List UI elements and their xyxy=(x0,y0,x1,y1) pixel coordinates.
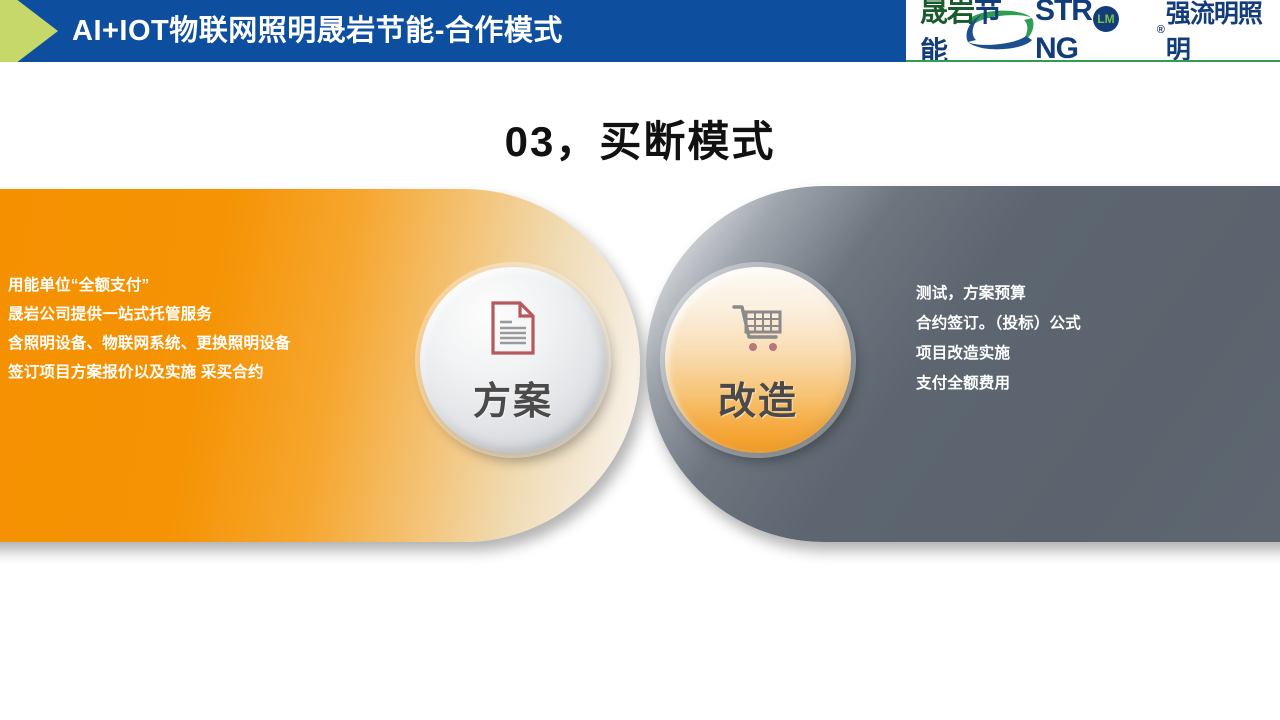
content-panels: 用能单位“全额支付” 晟岩公司提供一站式托管服务 含照明设备、物联网系统、更换照… xyxy=(0,186,1280,566)
left-panel-text-list: 用能单位“全额支付” 晟岩公司提供一站式托管服务 含照明设备、物联网系统、更换照… xyxy=(8,271,360,387)
retrofit-circle[interactable]: 改造 xyxy=(665,267,851,453)
list-item: 项目改造实施 xyxy=(916,339,1246,369)
strong-text: STRLMNG xyxy=(1035,0,1157,62)
logo-cn-green-text: 晟岩节能 xyxy=(920,0,1023,62)
brand-logo: 晟岩节能 STRLMNG ® 强流明照明 xyxy=(906,0,1280,62)
chevron-right-icon xyxy=(0,0,58,62)
list-item: 测试，方案预算 xyxy=(916,279,1246,309)
list-item: 含照明设备、物联网系统、更换照明设备 xyxy=(8,329,360,358)
strong-o-badge: LM xyxy=(1093,6,1119,32)
list-item: 用能单位“全额支付” xyxy=(8,271,360,300)
registered-mark: ® xyxy=(1157,24,1165,36)
right-panel-text-list: 测试，方案预算 合约签订。（投标）公式 项目改造实施 支付全额费用 xyxy=(916,279,1246,399)
list-item: 签订项目方案报价以及实施 采买合约 xyxy=(8,358,360,387)
plan-circle[interactable]: 方案 xyxy=(420,267,606,453)
logo-strong-wordmark: STRLMNG ® 强流明照明 xyxy=(1035,0,1280,62)
plan-circle-label: 方案 xyxy=(473,370,553,425)
logo-cn-tagline: 强流明照明 xyxy=(1166,0,1280,62)
retrofit-circle-label: 改造 xyxy=(718,370,798,425)
list-item: 支付全额费用 xyxy=(916,369,1246,399)
document-icon xyxy=(490,300,536,356)
slide-heading: 03，买断模式 xyxy=(0,108,1280,169)
page-title: AI+IOT物联网照明晟岩节能-合作模式 xyxy=(72,0,563,62)
shopping-cart-icon xyxy=(731,300,785,356)
list-item: 晟岩公司提供一站式托管服务 xyxy=(8,300,360,329)
list-item: 合约签订。（投标）公式 xyxy=(916,309,1246,339)
logo-chinese-name: 晟岩节能 xyxy=(920,7,1023,53)
